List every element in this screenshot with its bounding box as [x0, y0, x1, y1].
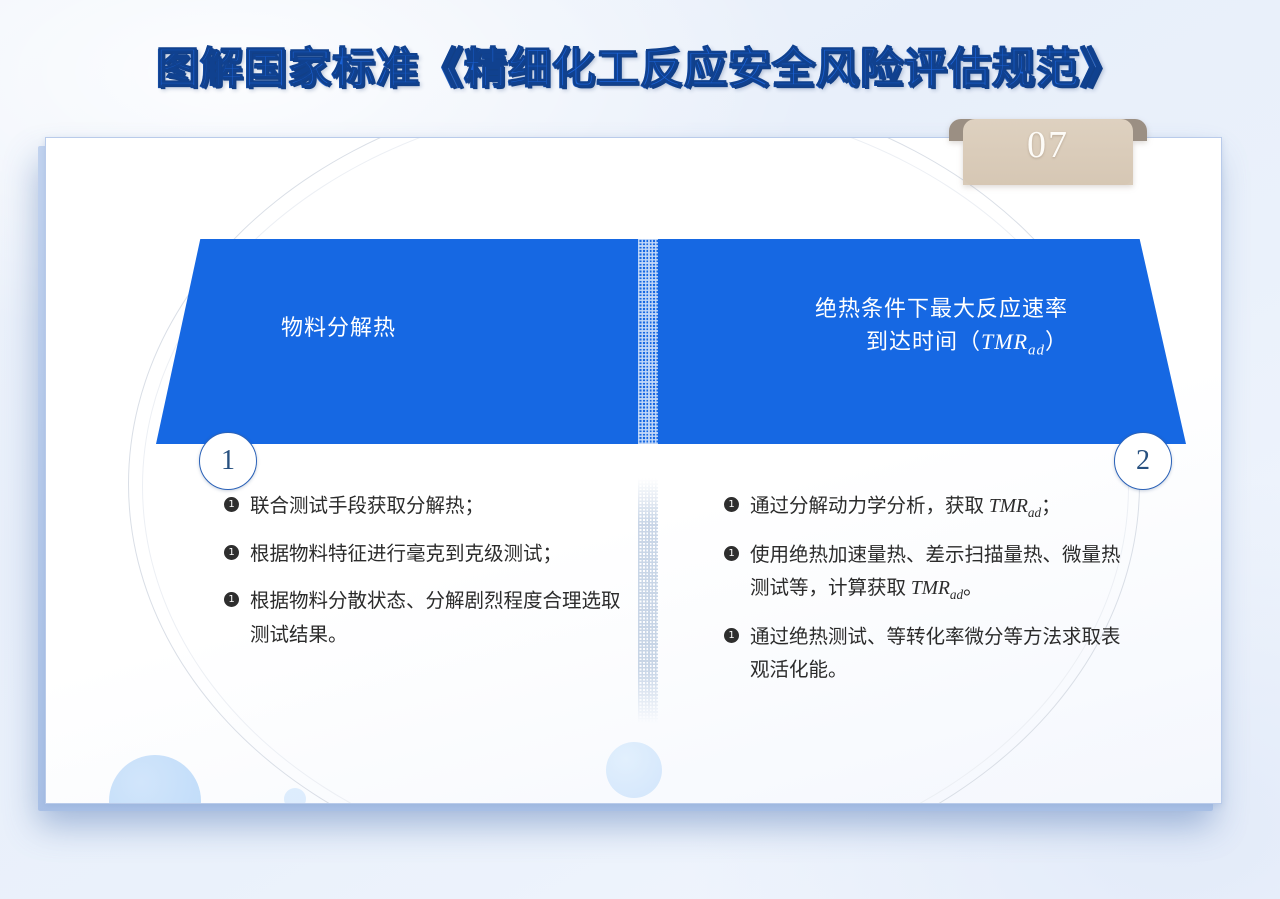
page-title-wrapper: 图解国家标准《精细化工反应安全风险评估规范》: [0, 34, 1280, 96]
page-title: 图解国家标准《精细化工反应安全风险评估规范》: [156, 34, 1124, 96]
decorative-circle: [606, 742, 662, 798]
bullet-column-left: 1 联合测试手段获取分解热； 1 根据物料特征进行毫克到克级测试； 1 根据物料…: [224, 490, 624, 666]
step-badge-1: 1: [199, 432, 257, 490]
tmr-base: TMR: [911, 578, 950, 599]
tmr-formula: TMRad: [911, 578, 963, 599]
tmr-sub: ad: [1028, 505, 1041, 520]
section-number-ribbon: 07: [963, 119, 1133, 185]
list-item-text: 使用绝热加速量热、差示扫描量热、微量热测试等，计算获取 TMRad。: [750, 539, 1124, 607]
banner-right-heading-line1: 绝热条件下最大反应速率: [815, 296, 1068, 321]
list-item: 1 使用绝热加速量热、差示扫描量热、微量热测试等，计算获取 TMRad。: [724, 539, 1124, 607]
banner-right-heading-line2-pre: 到达时间（: [866, 329, 981, 354]
list-item: 1 根据物料分散状态、分解剧烈程度合理选取测试结果。: [224, 585, 624, 652]
list-item-text-pre: 通过绝热测试、等转化率微分等方法求取表观活化能。: [750, 627, 1121, 682]
list-item-text-post: 。: [963, 578, 983, 599]
bullet-marker-icon: 1: [724, 628, 739, 643]
bullet-marker-icon: 1: [224, 592, 239, 607]
section-number: 07: [963, 123, 1133, 167]
bullet-column-right: 1 通过分解动力学分析，获取 TMRad； 1 使用绝热加速量热、差示扫描量热、…: [724, 490, 1124, 702]
list-item-text: 通过分解动力学分析，获取 TMRad；: [750, 490, 1124, 525]
bullet-marker-icon: 1: [224, 545, 239, 560]
list-item: 1 根据物料特征进行毫克到克级测试；: [224, 538, 624, 572]
list-item-text-post: ；: [1041, 496, 1061, 517]
list-item: 1 联合测试手段获取分解热；: [224, 490, 624, 524]
tmr-base: TMR: [989, 496, 1028, 517]
decorative-arc-outer: [128, 137, 1140, 804]
banner-right-heading: 绝热条件下最大反应速率 到达时间（TMRad）: [815, 292, 1068, 362]
tmr-formula: TMRad: [989, 496, 1041, 517]
slide-card: 数据测试及获取 物料分解热 绝热条件下最大反应速率 到达时间（TMRad） 1 …: [45, 137, 1222, 804]
decorative-circle: [109, 755, 201, 804]
banner-left-heading: 物料分解热: [281, 311, 396, 344]
tmr-sub: ad: [1028, 342, 1045, 358]
bullet-marker-icon: 1: [724, 497, 739, 512]
list-item-text-pre: 通过分解动力学分析，获取: [750, 496, 989, 517]
list-item-text: 根据物料分散状态、分解剧烈程度合理选取测试结果。: [250, 585, 624, 652]
tmr-formula: TMRad: [981, 329, 1045, 354]
decorative-circle: [284, 788, 306, 804]
step-badge-2: 2: [1114, 432, 1172, 490]
dotted-divider-bottom: [638, 478, 658, 723]
dotted-divider-top: [638, 237, 658, 444]
blue-banner: 物料分解热 绝热条件下最大反应速率 到达时间（TMRad）: [156, 239, 1186, 444]
tmr-sub: ad: [950, 587, 963, 602]
banner-right-heading-line2-post: ）: [1045, 329, 1068, 354]
decorative-arc-inner: [142, 137, 1129, 804]
list-item-text: 通过绝热测试、等转化率微分等方法求取表观活化能。: [750, 621, 1124, 688]
list-item: 1 通过绝热测试、等转化率微分等方法求取表观活化能。: [724, 621, 1124, 688]
tmr-base: TMR: [981, 329, 1028, 354]
bullet-marker-icon: 1: [724, 546, 739, 561]
list-item-text: 联合测试手段获取分解热；: [250, 490, 624, 524]
bullet-marker-icon: 1: [224, 497, 239, 512]
list-item: 1 通过分解动力学分析，获取 TMRad；: [724, 490, 1124, 525]
list-item-text: 根据物料特征进行毫克到克级测试；: [250, 538, 624, 572]
